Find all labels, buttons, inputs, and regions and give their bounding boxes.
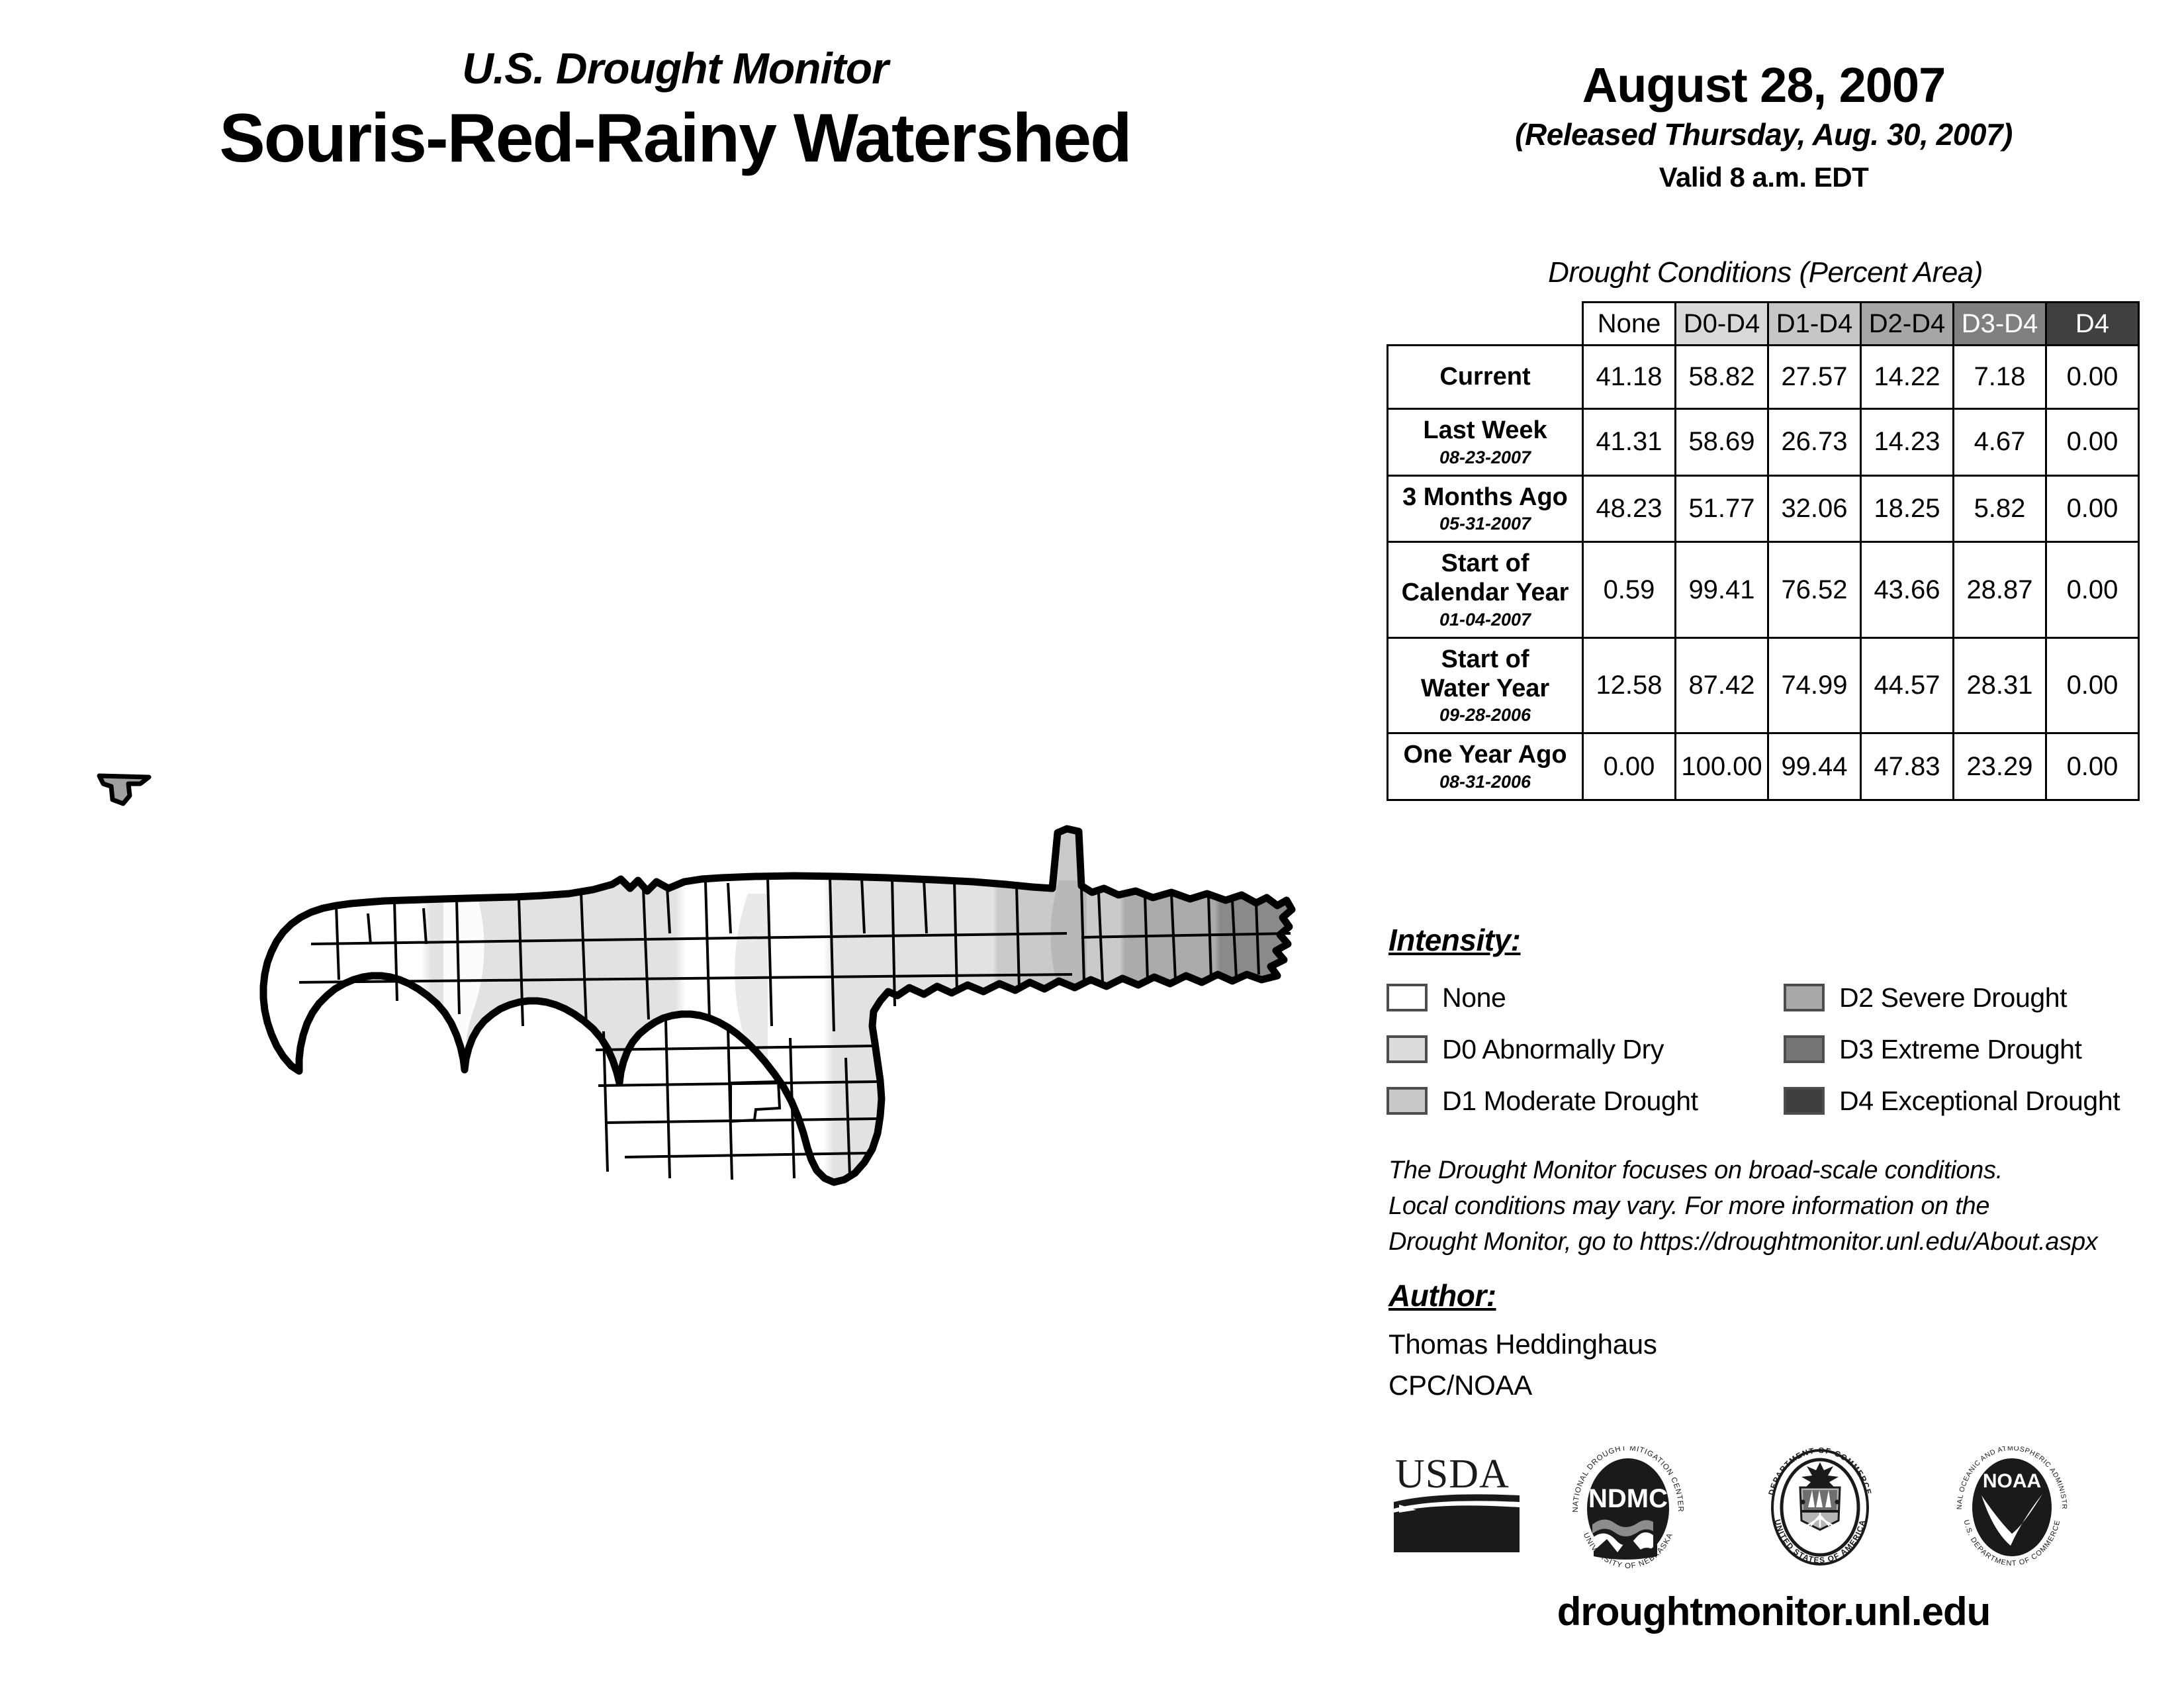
table-column-header-d4: D4 bbox=[2046, 303, 2139, 346]
table-cell: 0.59 bbox=[1583, 542, 1676, 637]
map-container bbox=[0, 715, 1357, 1244]
table-column-header-none: None bbox=[1583, 303, 1676, 346]
table-row: Start ofWater Year09-28-200612.5887.4274… bbox=[1388, 637, 2139, 733]
legend-item: D4 Exceptional Drought bbox=[1784, 1075, 2120, 1127]
table-row-label: Start ofWater Year09-28-2006 bbox=[1388, 637, 1583, 733]
table-cell: 28.87 bbox=[1954, 542, 2046, 637]
table-cell: 41.18 bbox=[1583, 346, 1676, 409]
table-row: 3 Months Ago05-31-200748.2351.7732.0618.… bbox=[1388, 475, 2139, 542]
legend-swatch bbox=[1784, 1087, 1825, 1115]
released-date: (Released Thursday, Aug. 30, 2007) bbox=[1390, 117, 2138, 152]
table-row-label: Last Week08-23-2007 bbox=[1388, 409, 1583, 476]
legend-label: None bbox=[1442, 982, 1506, 1013]
legend-swatch bbox=[1387, 1087, 1428, 1115]
disclaimer-line-1: The Drought Monitor focuses on broad-sca… bbox=[1388, 1153, 2169, 1189]
table-cell: 51.77 bbox=[1676, 475, 1768, 542]
disclaimer-line-3: Drought Monitor, go to https://droughtmo… bbox=[1388, 1225, 2169, 1260]
table-column-header-d1-d4: D1-D4 bbox=[1768, 303, 1861, 346]
legend-column-left: NoneD0 Abnormally DryD1 Moderate Drought bbox=[1387, 972, 1698, 1127]
disclaimer-text: The Drought Monitor focuses on broad-sca… bbox=[1388, 1153, 2169, 1260]
author-heading: Author: bbox=[1388, 1278, 1496, 1313]
table-cell: 99.41 bbox=[1676, 542, 1768, 637]
legend-label: D1 Moderate Drought bbox=[1442, 1086, 1698, 1117]
legend-swatch bbox=[1387, 1035, 1428, 1063]
table-cell: 74.99 bbox=[1768, 637, 1861, 733]
table-cell: 27.57 bbox=[1768, 346, 1861, 409]
page-supertitle: U.S. Drought Monitor bbox=[0, 46, 1350, 90]
table-cell: 0.00 bbox=[2046, 637, 2139, 733]
table-cell: 47.83 bbox=[1861, 733, 1954, 800]
table-cell: 87.42 bbox=[1676, 637, 1768, 733]
table-cell: 44.57 bbox=[1861, 637, 1954, 733]
date-block: August 28, 2007 (Released Thursday, Aug.… bbox=[1390, 60, 2138, 193]
table-cell: 48.23 bbox=[1583, 475, 1676, 542]
author-affiliation: CPC/NOAA bbox=[1388, 1365, 1657, 1406]
table-cell: 32.06 bbox=[1768, 475, 1861, 542]
table-cell: 12.58 bbox=[1583, 637, 1676, 733]
table-cell: 43.66 bbox=[1861, 542, 1954, 637]
table-caption: Drought Conditions (Percent Area) bbox=[1390, 256, 2141, 289]
disclaimer-line-2: Local conditions may vary. For more info… bbox=[1388, 1189, 2169, 1225]
table-cell: 0.00 bbox=[2046, 542, 2139, 637]
table-row-date: 09-28-2006 bbox=[1392, 705, 1578, 726]
table-cell: 0.00 bbox=[2046, 733, 2139, 800]
legend-label: D0 Abnormally Dry bbox=[1442, 1034, 1664, 1065]
legend-label: D2 Severe Drought bbox=[1839, 982, 2067, 1013]
usda-logo: USDA bbox=[1390, 1446, 1522, 1559]
table-header-row: NoneD0-D4D1-D4D2-D4D3-D4D4 bbox=[1388, 303, 2139, 346]
table-row: One Year Ago08-31-20060.00100.0099.4447.… bbox=[1388, 733, 2139, 800]
table-corner-spacer bbox=[1388, 303, 1583, 346]
table-row: Start ofCalendar Year01-04-20070.5999.41… bbox=[1388, 542, 2139, 637]
legend-label: D3 Extreme Drought bbox=[1839, 1034, 2082, 1065]
table-row-label: 3 Months Ago05-31-2007 bbox=[1388, 475, 1583, 542]
table-row-date: 01-04-2007 bbox=[1392, 610, 1578, 630]
department-of-commerce-seal: DEPARTMENT OF COMMERCE UNITED STATES OF … bbox=[1754, 1446, 1886, 1569]
table-column-header-d3-d4: D3-D4 bbox=[1954, 303, 2046, 346]
table-cell: 5.82 bbox=[1954, 475, 2046, 542]
site-url: droughtmonitor.unl.edu bbox=[1383, 1589, 2164, 1634]
table-row-label: One Year Ago08-31-2006 bbox=[1388, 733, 1583, 800]
table-cell: 99.44 bbox=[1768, 733, 1861, 800]
title-block: U.S. Drought Monitor Souris-Red-Rainy Wa… bbox=[0, 46, 1350, 179]
table-row-label: Current bbox=[1388, 346, 1583, 409]
map-detached-fragment bbox=[99, 776, 149, 804]
table-row: Last Week08-23-200741.3158.6926.7314.234… bbox=[1388, 409, 2139, 476]
legend-swatch bbox=[1784, 1035, 1825, 1063]
valid-date: August 28, 2007 bbox=[1390, 60, 2138, 111]
legend-item: None bbox=[1387, 972, 1698, 1023]
table-cell: 58.82 bbox=[1676, 346, 1768, 409]
table-row-date: 05-31-2007 bbox=[1392, 514, 1578, 534]
svg-text:NOAA: NOAA bbox=[1983, 1470, 2041, 1492]
table-cell: 76.52 bbox=[1768, 542, 1861, 637]
legend-label: D4 Exceptional Drought bbox=[1839, 1086, 2120, 1117]
table-cell: 0.00 bbox=[2046, 409, 2139, 476]
ndmc-logo: NDMC NATIONAL DROUGHT MITIGATION CENTER … bbox=[1562, 1446, 1694, 1569]
intensity-heading: Intensity: bbox=[1388, 922, 1520, 958]
table-cell: 41.31 bbox=[1583, 409, 1676, 476]
table-cell: 23.29 bbox=[1954, 733, 2046, 800]
table-cell: 0.00 bbox=[1583, 733, 1676, 800]
legend-item: D2 Severe Drought bbox=[1784, 972, 2120, 1023]
author-name: Thomas Heddinghaus bbox=[1388, 1324, 1657, 1365]
legend-item: D3 Extreme Drought bbox=[1784, 1023, 2120, 1075]
table-column-header-d0-d4: D0-D4 bbox=[1676, 303, 1768, 346]
table-cell: 14.22 bbox=[1861, 346, 1954, 409]
drought-conditions-table: NoneD0-D4D1-D4D2-D4D3-D4D4 Current41.185… bbox=[1387, 301, 2141, 801]
author-block: Thomas Heddinghaus CPC/NOAA bbox=[1388, 1324, 1657, 1406]
legend-item: D1 Moderate Drought bbox=[1387, 1075, 1698, 1127]
map-main-watershed bbox=[251, 821, 1310, 1192]
table-cell: 28.31 bbox=[1954, 637, 2046, 733]
table-cell: 4.67 bbox=[1954, 409, 2046, 476]
legend-swatch bbox=[1387, 984, 1428, 1011]
table-cell: 18.25 bbox=[1861, 475, 1954, 542]
table-cell: 26.73 bbox=[1768, 409, 1861, 476]
table-column-header-d2-d4: D2-D4 bbox=[1861, 303, 1954, 346]
table-row: Current41.1858.8227.5714.227.180.00 bbox=[1388, 346, 2139, 409]
noaa-logo: NOAA NATIONAL OCEANIC AND ATMOSPHERIC AD… bbox=[1946, 1446, 2078, 1569]
table-row-date: 08-31-2006 bbox=[1392, 772, 1578, 792]
agency-logos: USDA NDMC NATIONAL DROUGHT MITIGATION CE… bbox=[1383, 1446, 2164, 1579]
page-title: Souris-Red-Rainy Watershed bbox=[0, 99, 1350, 179]
legend-swatch bbox=[1784, 984, 1825, 1011]
legend-column-right: D2 Severe DroughtD3 Extreme DroughtD4 Ex… bbox=[1784, 972, 2120, 1127]
souris-red-rainy-watershed-map bbox=[0, 715, 1357, 1244]
svg-text:NDMC: NDMC bbox=[1588, 1484, 1668, 1513]
table-row-label: Start ofCalendar Year01-04-2007 bbox=[1388, 542, 1583, 637]
table-cell: 58.69 bbox=[1676, 409, 1768, 476]
table-row-date: 08-23-2007 bbox=[1392, 447, 1578, 468]
valid-time: Valid 8 a.m. EDT bbox=[1390, 162, 2138, 193]
table-cell: 14.23 bbox=[1861, 409, 1954, 476]
table-cell: 0.00 bbox=[2046, 475, 2139, 542]
table-cell: 7.18 bbox=[1954, 346, 2046, 409]
svg-text:USDA: USDA bbox=[1395, 1452, 1510, 1497]
table-cell: 100.00 bbox=[1676, 733, 1768, 800]
legend-item: D0 Abnormally Dry bbox=[1387, 1023, 1698, 1075]
table-cell: 0.00 bbox=[2046, 346, 2139, 409]
